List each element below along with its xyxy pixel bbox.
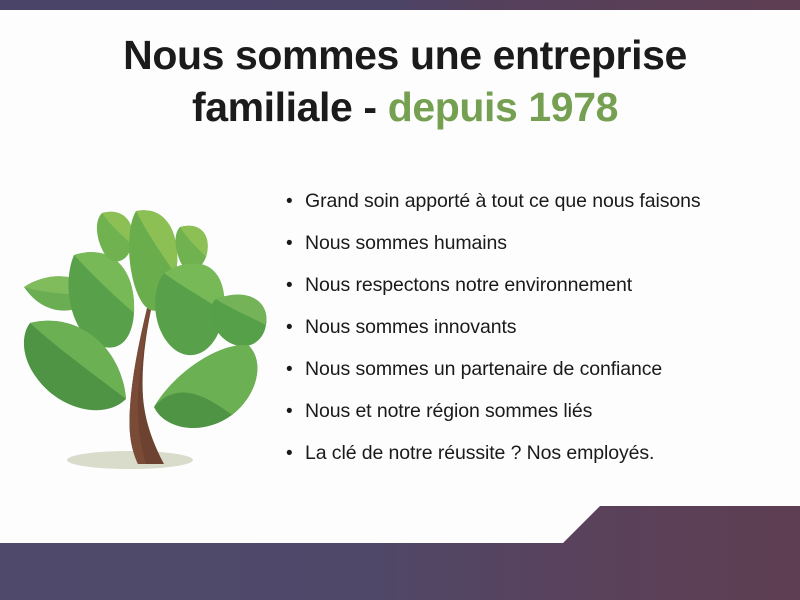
page-title: Nous sommes une entreprise familiale - d… <box>60 32 750 131</box>
bullet-marker-icon: • <box>286 360 305 379</box>
title-line-1: Nous sommes une entreprise <box>60 32 750 80</box>
list-item: • Nous sommes un partenaire de confiance <box>286 358 776 400</box>
top-accent-bar <box>0 0 800 10</box>
bullet-list: • Grand soin apporté à tout ce que nous … <box>286 190 776 484</box>
bullet-marker-icon: • <box>286 276 305 295</box>
bullet-text: Grand soin apporté à tout ce que nous fa… <box>305 190 701 213</box>
list-item: • Nous respectons notre environnement <box>286 274 776 316</box>
bullet-text: La clé de notre réussite ? Nos employés. <box>305 442 654 465</box>
bullet-text: Nous sommes innovants <box>305 316 516 339</box>
leaf-right-outer <box>210 295 266 347</box>
footer: tabor-automobiles.fr <box>0 495 800 600</box>
tree-shadow <box>67 451 193 469</box>
bullet-marker-icon: • <box>286 234 305 253</box>
bullet-text: Nous respectons notre environnement <box>305 274 632 297</box>
bullet-marker-icon: • <box>286 402 305 421</box>
bullet-text: Nous et notre région sommes liés <box>305 400 592 423</box>
tree-graphic <box>12 183 280 488</box>
list-item: • Grand soin apporté à tout ce que nous … <box>286 190 776 232</box>
bullet-text: Nous sommes humains <box>305 232 507 255</box>
bullet-marker-icon: • <box>286 192 305 211</box>
title-line-2-plain: familiale - <box>192 84 377 130</box>
title-line-2: familiale - depuis 1978 <box>60 84 750 132</box>
bullet-text: Nous sommes un partenaire de confiance <box>305 358 662 381</box>
list-item: • Nous sommes innovants <box>286 316 776 358</box>
footer-band <box>0 495 800 600</box>
tree-illustration <box>12 183 280 488</box>
bullet-marker-icon: • <box>286 318 305 337</box>
title-line-2-accent: depuis 1978 <box>388 84 618 130</box>
list-item: • Nous et notre région sommes liés <box>286 400 776 442</box>
slide-root: Nous sommes une entreprise familiale - d… <box>0 0 800 600</box>
list-item: • La clé de notre réussite ? Nos employé… <box>286 442 776 484</box>
list-item: • Nous sommes humains <box>286 232 776 274</box>
leaf-right-lower <box>154 345 257 428</box>
bullet-marker-icon: • <box>286 444 305 463</box>
